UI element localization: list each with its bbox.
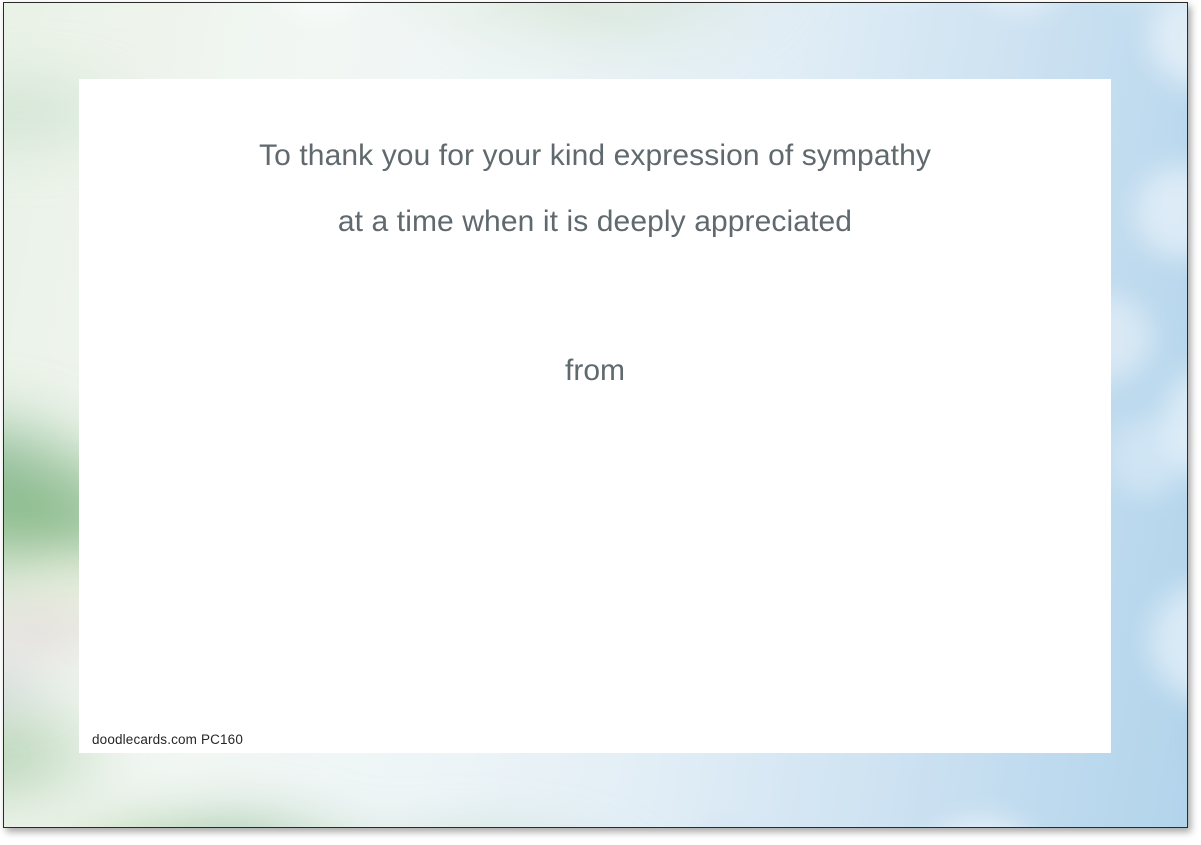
card-message: To thank you for your kind expression of… bbox=[79, 141, 1111, 237]
bokeh-top-3 bbox=[556, 3, 686, 7]
card-image-frame: To thank you for your kind expression of… bbox=[3, 2, 1188, 828]
message-line-1: To thank you for your kind expression of… bbox=[79, 141, 1111, 171]
message-line-2: at a time when it is deeply appreciated bbox=[79, 207, 1111, 237]
bokeh-top-2 bbox=[374, 3, 524, 17]
bokeh-right-7 bbox=[1143, 575, 1187, 709]
bokeh-right-1 bbox=[1143, 3, 1187, 93]
bokeh-mid-2 bbox=[1104, 415, 1187, 501]
greeting-card-panel: To thank you for your kind expression of… bbox=[79, 79, 1111, 753]
bokeh-right-3 bbox=[1130, 160, 1187, 264]
bokeh-top-6 bbox=[960, 3, 1080, 16]
bokeh-top-1 bbox=[257, 3, 375, 23]
from-label: from bbox=[79, 356, 1111, 386]
bokeh-bottom-1 bbox=[908, 811, 1058, 827]
card-footer-credit: doodlecards.com PC160 bbox=[92, 732, 243, 747]
